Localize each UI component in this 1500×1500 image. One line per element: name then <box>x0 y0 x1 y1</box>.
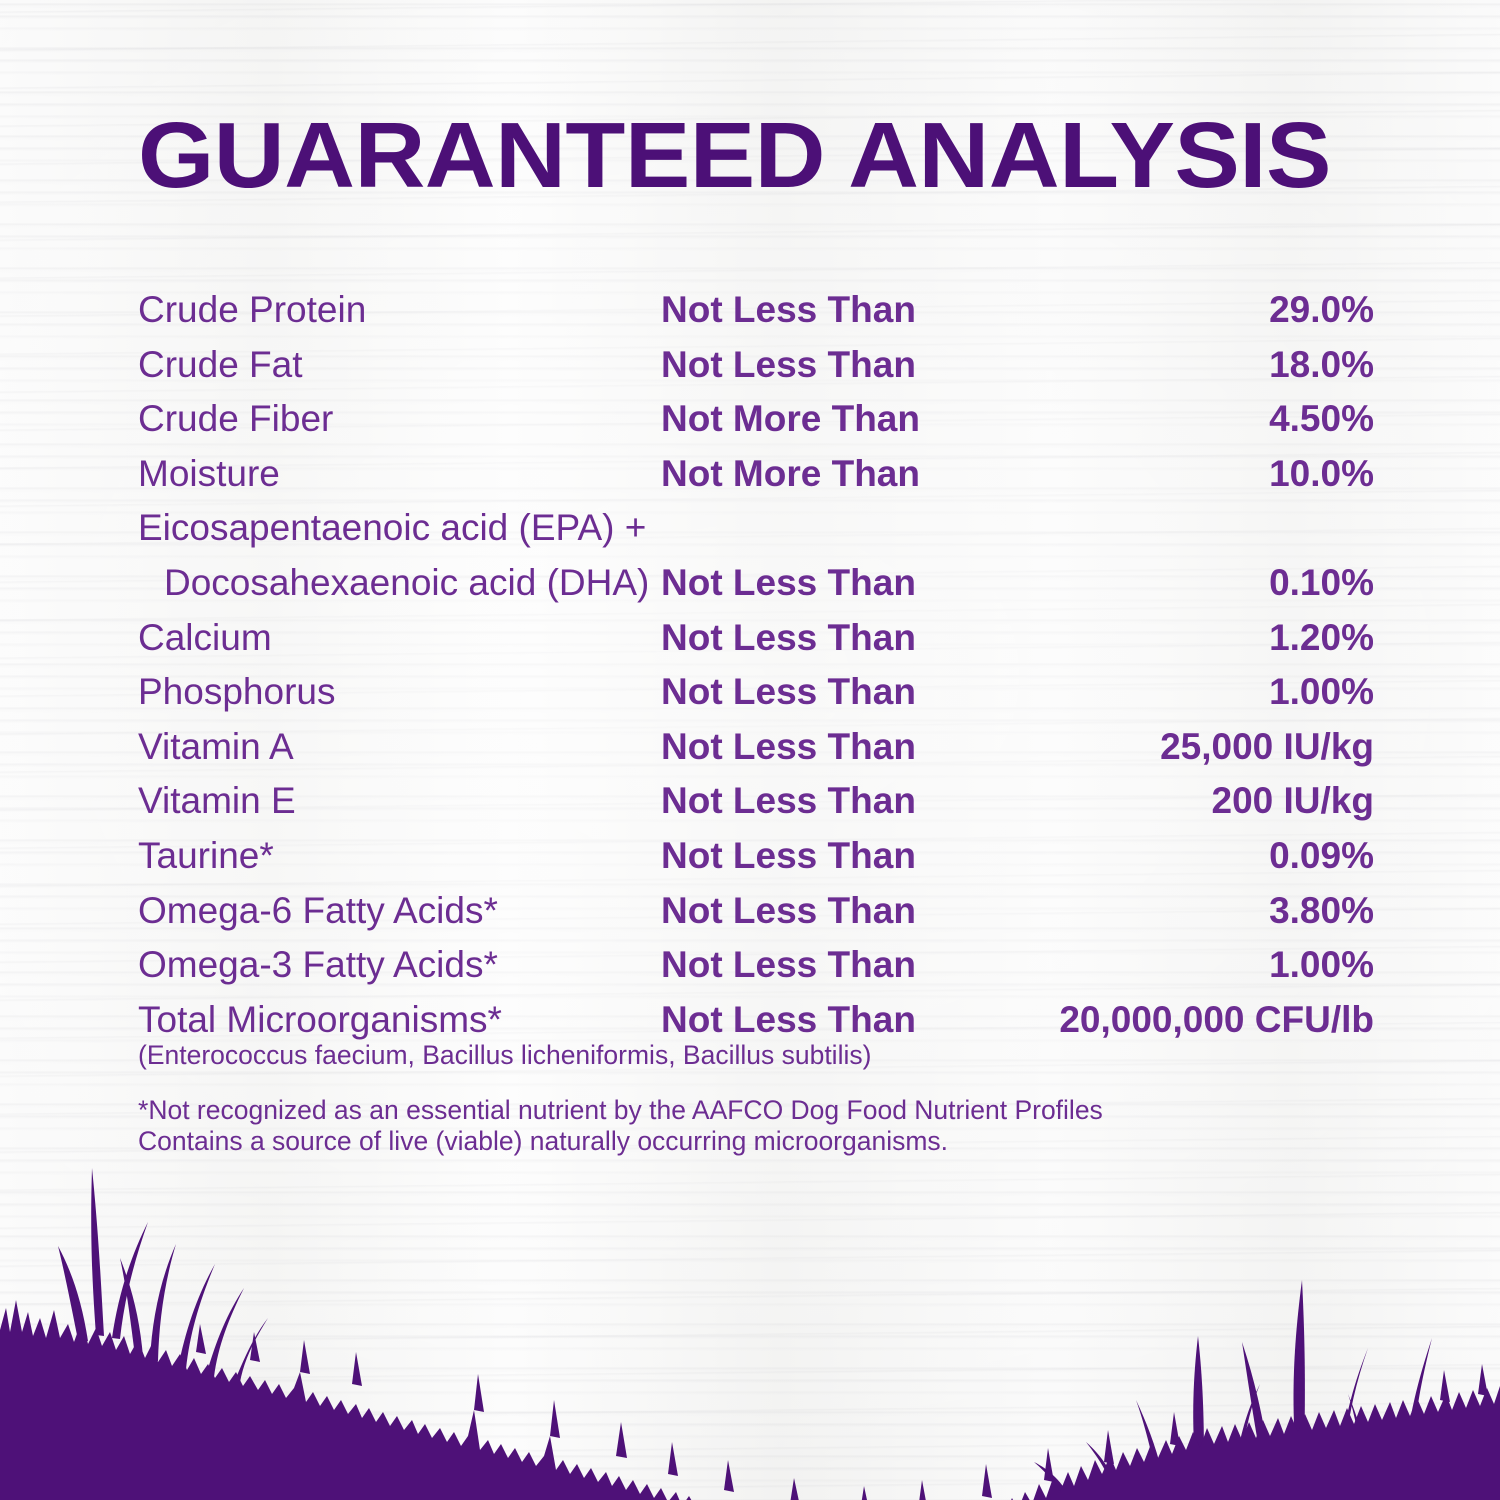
nutrient-value: 18.0% <box>714 338 1374 393</box>
nutrient-label: Phosphorus <box>138 665 335 720</box>
nutrient-value: 200 IU/kg <box>714 774 1374 829</box>
nutrient-label: Omega-6 Fatty Acids* <box>138 884 498 939</box>
table-row: Phosphorus Not Less Than 1.00% <box>138 665 1374 720</box>
footnote-strains: (Enterococcus faecium, Bacillus lichenif… <box>138 1040 1388 1071</box>
nutrient-label: Calcium <box>138 611 272 666</box>
table-row: Crude Fat Not Less Than 18.0% <box>138 338 1374 393</box>
table-row: Vitamin A Not Less Than 25,000 IU/kg <box>138 720 1374 775</box>
nutrient-value: 0.10% <box>714 556 1374 611</box>
table-row: Taurine* Not Less Than 0.09% <box>138 829 1374 884</box>
nutrient-label: Crude Fat <box>138 338 303 393</box>
table-row: Calcium Not Less Than 1.20% <box>138 611 1374 666</box>
table-row: Vitamin E Not Less Than 200 IU/kg <box>138 774 1374 829</box>
grass-silhouette-icon <box>0 1160 1500 1500</box>
nutrient-value: 3.80% <box>714 884 1374 939</box>
footnotes: (Enterococcus faecium, Bacillus lichenif… <box>138 1040 1388 1157</box>
nutrient-label-line2: Docosahexaenoic acid (DHA) <box>138 556 649 611</box>
nutrient-label: Crude Fiber <box>138 392 333 447</box>
nutrient-value: 4.50% <box>714 392 1374 447</box>
table-row: Crude Protein Not Less Than 29.0% <box>138 283 1374 338</box>
table-row: Eicosapentaenoic acid (EPA) + Docosahexa… <box>138 501 1374 610</box>
footnote-asterisk: *Not recognized as an essential nutrient… <box>138 1095 1388 1126</box>
nutrient-value: 0.09% <box>714 829 1374 884</box>
page-title: GUARANTEED ANALYSIS <box>138 108 1446 203</box>
nutrient-value: 1.00% <box>714 665 1374 720</box>
nutrient-value: 25,000 IU/kg <box>714 720 1374 775</box>
nutrient-value: 1.00% <box>714 938 1374 993</box>
nutrient-label: Omega-3 Fatty Acids* <box>138 938 498 993</box>
nutrient-label-line1: Eicosapentaenoic acid (EPA) + <box>138 501 649 556</box>
table-row: Omega-3 Fatty Acids* Not Less Than 1.00% <box>138 938 1374 993</box>
nutrient-value: 1.20% <box>714 611 1374 666</box>
nutrient-label: Eicosapentaenoic acid (EPA) + Docosahexa… <box>138 501 649 610</box>
footnote-live-cultures: Contains a source of live (viable) natur… <box>138 1126 1388 1157</box>
nutrient-value: 10.0% <box>714 447 1374 502</box>
nutrient-label: Vitamin A <box>138 720 294 775</box>
nutrient-label: Crude Protein <box>138 283 366 338</box>
nutrient-label: Moisture <box>138 447 280 502</box>
guaranteed-analysis-table: Crude Protein Not Less Than 29.0% Crude … <box>138 283 1374 1047</box>
table-row: Moisture Not More Than 10.0% <box>138 447 1374 502</box>
table-row: Omega-6 Fatty Acids* Not Less Than 3.80% <box>138 884 1374 939</box>
nutrient-label: Taurine* <box>138 829 274 884</box>
table-row: Crude Fiber Not More Than 4.50% <box>138 392 1374 447</box>
nutrient-value: 29.0% <box>714 283 1374 338</box>
nutrient-label: Vitamin E <box>138 774 296 829</box>
